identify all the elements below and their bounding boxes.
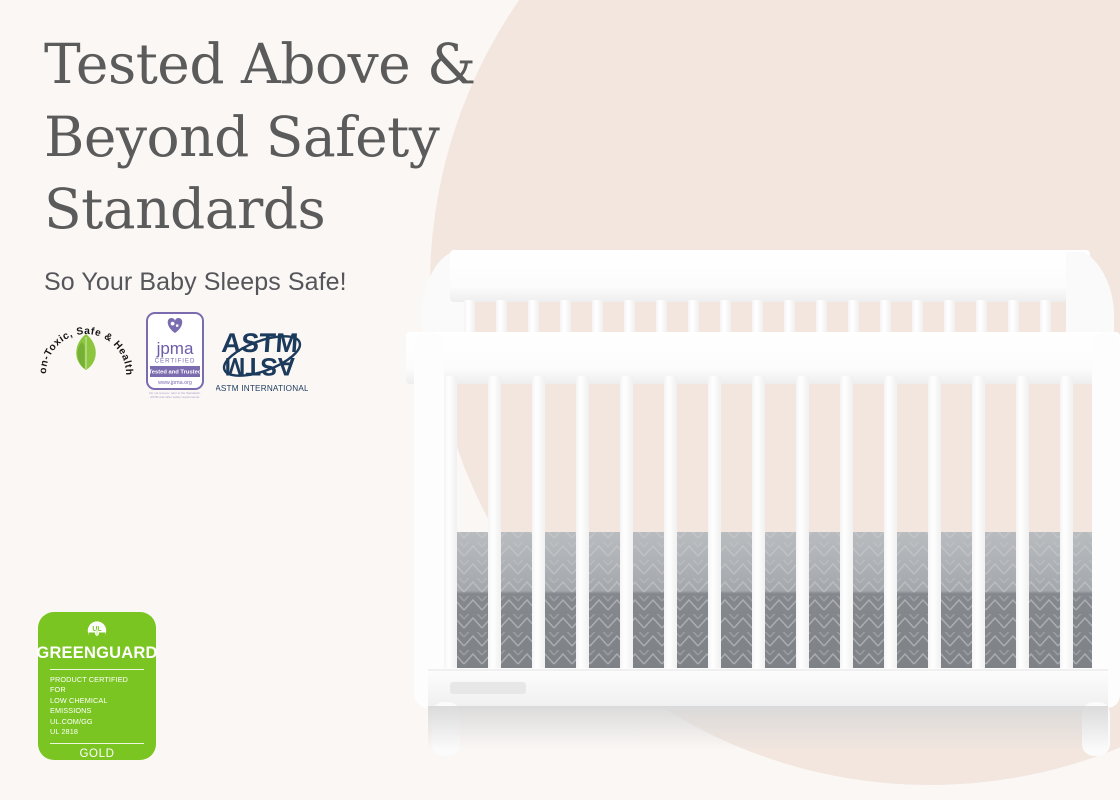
crib-floor-shadow (428, 706, 1108, 750)
certification-badge-row: Non-Toxic, Safe & Healthy jpma (36, 312, 308, 402)
jpma-wordmark: jpma (156, 339, 194, 358)
crib-headboard-top-rail (450, 250, 1090, 302)
greenguard-line-4: UL 2818 (50, 727, 144, 738)
greenguard-line-3: UL.COM/GG (50, 717, 144, 728)
jpma-tagline: Tested and Trusted (149, 370, 202, 376)
safety-standards-banner: Tested Above & Beyond Safety Standards S… (0, 0, 1120, 800)
badge-astm: ASTM ASTM ASTM INTERNATIONAL (216, 312, 308, 396)
badge-non-toxic: Non-Toxic, Safe & Healthy (36, 312, 136, 398)
product-image-crib (392, 236, 1120, 766)
greenguard-level: GOLD (80, 748, 115, 760)
astm-globe-icon: ASTM ASTM (219, 328, 304, 384)
ul-leaf-icon: UL (72, 621, 122, 640)
astm-caption: ASTM INTERNATIONAL (216, 384, 308, 393)
greenguard-line-2: LOW CHEMICAL EMISSIONS (50, 696, 144, 717)
jpma-url: www.jpma.org (157, 380, 192, 386)
page-subtitle: So Your Baby Sleeps Safe! (44, 268, 514, 297)
greenguard-details: PRODUCT CERTIFIED FOR LOW CHEMICAL EMISS… (50, 675, 144, 738)
page-title: Tested Above & Beyond Safety Standards (44, 28, 514, 246)
jpma-fine-print-line2: ASTM and other safety requirements. (150, 395, 200, 399)
greenguard-brand: GREENGUARD (36, 644, 157, 663)
leaf-icon (76, 334, 96, 370)
hero-text-block: Tested Above & Beyond Safety Standards S… (44, 28, 514, 297)
crib-right-post (1092, 332, 1120, 708)
greenguard-line-1: PRODUCT CERTIFIED FOR (50, 675, 144, 696)
crib-base-panel (428, 668, 1108, 710)
jpma-certified-label: CERTIFIED (155, 358, 196, 365)
badge-greenguard: UL GREENGUARD PRODUCT CERTIFIED FOR LOW … (38, 612, 156, 760)
badge-jpma: jpma CERTIFIED Tested and Trusted www.jp… (146, 312, 204, 402)
crib-headboard-right-post (1066, 252, 1114, 332)
crib-base-label (450, 682, 526, 694)
crib-left-post (414, 332, 444, 708)
